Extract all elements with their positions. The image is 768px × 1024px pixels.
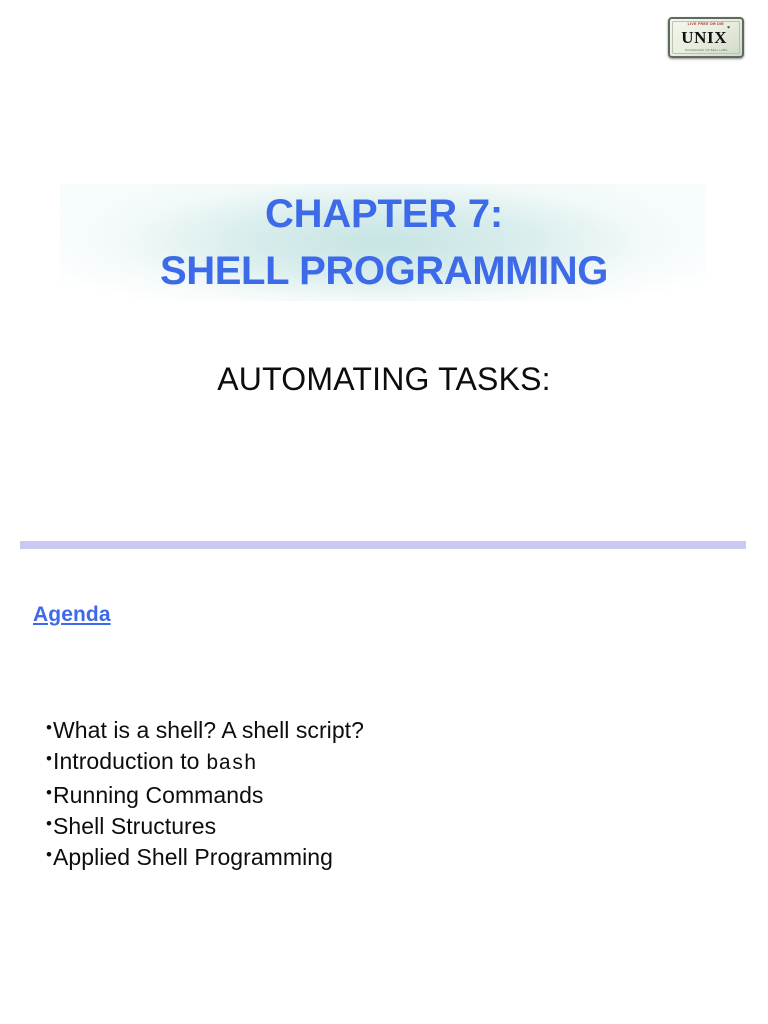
agenda-bullet-label: Introduction to xyxy=(53,748,206,774)
slide-title: CHAPTER 7: SHELL PROGRAMMING xyxy=(0,186,768,300)
bullet-dot-icon: • xyxy=(46,750,53,767)
agenda-bullet-label: Shell Structures xyxy=(53,813,216,839)
unix-logo-superscript: * xyxy=(727,26,731,32)
slide-subtitle: AUTOMATING TASKS: xyxy=(0,358,768,400)
agenda-bullet-item: •Running Commands xyxy=(46,780,364,811)
agenda-bullet-label: Applied Shell Programming xyxy=(53,844,333,870)
agenda-bullet-label: What is a shell? A shell script? xyxy=(53,717,364,743)
bullet-dot-icon: • xyxy=(46,815,53,832)
agenda-bullet-item: •Shell Structures xyxy=(46,811,364,842)
slide-canvas: LIVE FREE OR DIE UNIX* TRADEMARK OF BELL… xyxy=(0,0,768,1024)
unix-logo-top-text: LIVE FREE OR DIE xyxy=(688,23,724,26)
bullet-dot-icon: • xyxy=(46,846,53,863)
agenda-bullet-label: Running Commands xyxy=(53,782,263,808)
agenda-bullet-list: •What is a shell? A shell script?•Introd… xyxy=(46,715,364,873)
agenda-bullet-item: •What is a shell? A shell script? xyxy=(46,715,364,746)
unix-logo-bottom-text: TRADEMARK OF BELL LABS xyxy=(685,49,728,52)
agenda-heading: Agenda xyxy=(33,603,111,627)
bullet-dot-icon: • xyxy=(46,719,53,736)
unix-logo: LIVE FREE OR DIE UNIX* TRADEMARK OF BELL… xyxy=(668,17,744,58)
agenda-bullet-code: bash xyxy=(206,753,257,776)
unix-logo-wordmark: UNIX* xyxy=(681,30,730,46)
unix-logo-plate-inner: LIVE FREE OR DIE UNIX* TRADEMARK OF BELL… xyxy=(672,21,740,54)
slide-title-line-1: CHAPTER 7: xyxy=(0,186,768,243)
agenda-bullet-item: •Applied Shell Programming xyxy=(46,842,364,873)
horizontal-divider xyxy=(20,541,746,549)
slide-title-line-2: SHELL PROGRAMMING xyxy=(0,243,768,300)
agenda-bullet-item: •Introduction to bash xyxy=(46,746,364,781)
bullet-dot-icon: • xyxy=(46,784,53,801)
unix-logo-word: UNIX xyxy=(681,28,727,47)
